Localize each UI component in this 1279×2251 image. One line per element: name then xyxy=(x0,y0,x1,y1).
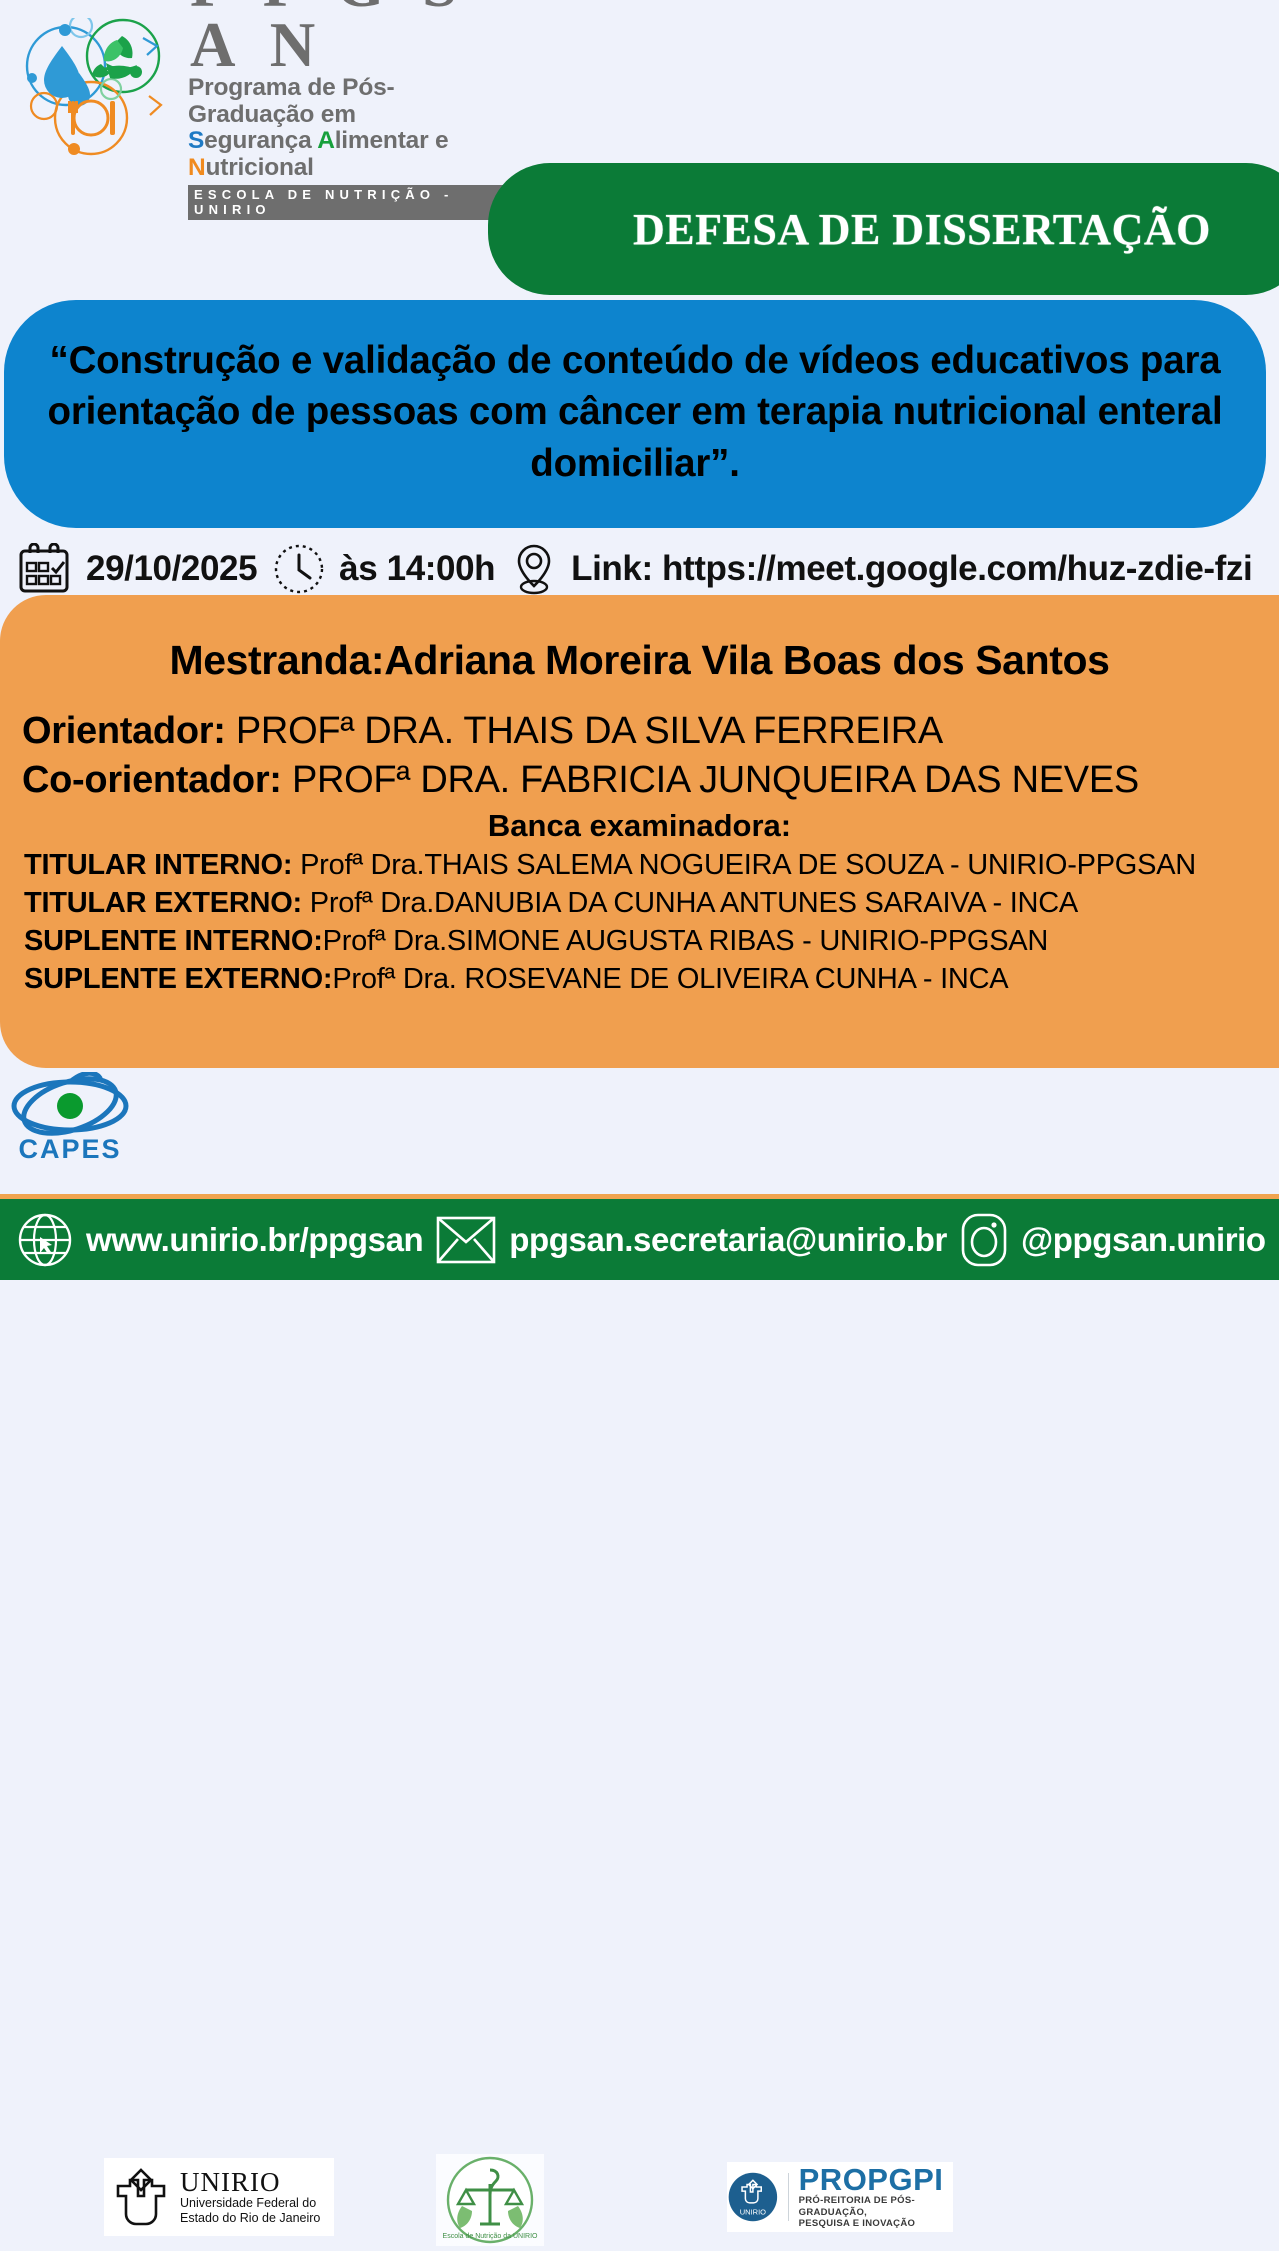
propgpi-logo-text: PROPGPI PRÓ-REITORIA DE PÓS-GRADUAÇÃO, P… xyxy=(799,2164,953,2231)
unirio-sub2: Estado do Rio de Janeiro xyxy=(180,2211,320,2225)
ppgsan-area-line: Segurança Alimentar e Nutricional xyxy=(188,128,518,181)
coadvisor-label: Co-orientador: xyxy=(22,759,282,801)
location-pin-icon xyxy=(511,542,557,596)
footer-website[interactable]: www.unirio.br/ppgsan xyxy=(86,1221,423,1259)
footer-email[interactable]: ppgsan.secretaria@unirio.br xyxy=(509,1221,947,1259)
word-seguranca: egurança xyxy=(204,127,317,154)
advisor-label: Orientador: xyxy=(22,710,226,752)
student-label: Mestranda: xyxy=(169,637,384,683)
poster-canvas: P P G S A N Programa de Pós-Graduação em… xyxy=(0,0,1279,1280)
event-info-row: 29/10/2025 às 14:00h Link: https://meet.… xyxy=(16,540,1266,598)
letter-a: A xyxy=(317,127,335,154)
defense-banner: DEFESA DE DISSERTAÇÃO xyxy=(488,163,1279,295)
event-date: 29/10/2025 xyxy=(86,549,257,589)
thesis-title-panel: “Construção e validação de conteúdo de v… xyxy=(4,300,1266,528)
coadvisor-name: PROFª DRA. FABRICIA JUNQUEIRA DAS NEVES xyxy=(292,759,1139,801)
student-line: Mestranda:Adriana Moreira Vila Boas dos … xyxy=(8,637,1271,684)
event-time: às 14:00h xyxy=(339,549,495,589)
committee-name: Profª Dra.THAIS SALEMA NOGUEIRA DE SOUZA… xyxy=(300,849,1196,881)
thesis-title: “Construção e validação de conteúdo de v… xyxy=(40,335,1230,489)
envelope-icon xyxy=(435,1212,497,1268)
defense-banner-title: DEFESA DE DISSERTAÇÃO xyxy=(633,204,1211,255)
escola-nutricao-logo: Escola de Nutrição da UNIRIO xyxy=(436,2154,544,2246)
unirio-seal-icon xyxy=(110,2166,172,2228)
propgpi-word: PROPGPI xyxy=(799,2164,953,2195)
letter-n: N xyxy=(188,154,206,181)
committee-name: Profª Dra.DANUBIA DA CUNHA ANTUNES SARAI… xyxy=(310,887,1078,919)
ppgsan-acronym: P P G S A N xyxy=(190,0,518,75)
committee-name: Profª Dra. ROSEVANE DE OLIVEIRA CUNHA - … xyxy=(332,963,1008,995)
propgpi-divider xyxy=(788,2173,789,2221)
committee-member: TITULAR EXTERNO: Profª Dra.DANUBIA DA CU… xyxy=(24,887,1271,920)
advisor-line: Orientador: PROFª DRA. THAIS DA SILVA FE… xyxy=(22,710,1271,753)
advisor-name: PROFª DRA. THAIS DA SILVA FERREIRA xyxy=(236,710,943,752)
clock-icon xyxy=(273,543,325,595)
committee-role: TITULAR INTERNO: xyxy=(24,849,292,881)
word-alimentar: limentar e xyxy=(335,127,449,154)
propgpi-sub2: PESQUISA E INOVAÇÃO xyxy=(799,2218,953,2230)
committee-title: Banca examinadora: xyxy=(8,808,1271,844)
committee-role: SUPLENTE INTERNO: xyxy=(24,925,323,957)
event-link[interactable]: Link: https://meet.google.com/huz-zdie-f… xyxy=(571,549,1252,589)
committee-role: SUPLENTE EXTERNO: xyxy=(24,963,332,995)
coadvisor-line: Co-orientador: PROFª DRA. FABRICIA JUNQU… xyxy=(22,759,1271,802)
propgpi-unirio-seal-icon: UNIRIO xyxy=(727,2166,779,2228)
unirio-logo: UNIRIO Universidade Federal do Estado do… xyxy=(104,2158,334,2236)
student-name: Adriana Moreira Vila Boas dos Santos xyxy=(384,637,1109,683)
unirio-sub1: Universidade Federal do xyxy=(180,2196,320,2210)
globe-icon xyxy=(16,1211,74,1269)
ppgsan-logo: P P G S A N Programa de Pós-Graduação em… xyxy=(18,18,518,158)
unirio-name: UNIRIO xyxy=(180,2169,320,2196)
unirio-logo-text: UNIRIO Universidade Federal do Estado do… xyxy=(180,2169,320,2225)
propgpi-logo: UNIRIO PROPGPI PRÓ-REITORIA DE PÓS-GRADU… xyxy=(727,2162,953,2232)
capes-logo: CAPES xyxy=(0,1072,140,1166)
instagram-icon xyxy=(959,1211,1009,1269)
committee-member: TITULAR INTERNO: Profª Dra.THAIS SALEMA … xyxy=(24,849,1271,882)
committee-name: Profª Dra.SIMONE AUGUSTA RIBAS - UNIRIO-… xyxy=(323,925,1048,957)
committee-role: TITULAR EXTERNO: xyxy=(24,887,302,919)
ppgsan-school-bar: ESCOLA DE NUTRIÇÃO - UNIRIO xyxy=(188,185,518,220)
capes-emblem-icon xyxy=(4,1072,136,1138)
escola-nutricao-seal-icon: Escola de Nutrição da UNIRIO xyxy=(436,2154,544,2246)
people-panel: Mestranda:Adriana Moreira Vila Boas dos … xyxy=(0,595,1279,1068)
committee-member: SUPLENTE EXTERNO:Profª Dra. ROSEVANE DE … xyxy=(24,963,1271,996)
word-nutricional: utricional xyxy=(206,154,314,181)
contact-footer: www.unirio.br/ppgsan ppgsan.secretaria@u… xyxy=(0,1199,1279,1280)
ppgsan-program-line: Programa de Pós-Graduação em xyxy=(188,75,518,128)
ppgsan-logo-text: P P G S A N Programa de Pós-Graduação em… xyxy=(188,0,518,220)
propgpi-sub1: PRÓ-REITORIA DE PÓS-GRADUAÇÃO, xyxy=(799,2195,953,2219)
ppgsan-emblem-icon xyxy=(18,18,178,158)
sponsor-logos: UNIRIO Universidade Federal do Estado do… xyxy=(0,1072,1279,1194)
escola-logo-label: Escola de Nutrição da UNIRIO xyxy=(443,2233,538,2240)
propgpi-seal-label: UNIRIO xyxy=(740,2208,766,2217)
footer-instagram[interactable]: @ppgsan.unirio xyxy=(1021,1221,1266,1259)
letter-s: S xyxy=(188,127,204,154)
ppgsan-logo-marks xyxy=(18,18,178,158)
committee-member: SUPLENTE INTERNO:Profª Dra.SIMONE AUGUST… xyxy=(24,925,1271,958)
capes-word: CAPES xyxy=(18,1134,121,1165)
calendar-icon xyxy=(16,543,72,595)
